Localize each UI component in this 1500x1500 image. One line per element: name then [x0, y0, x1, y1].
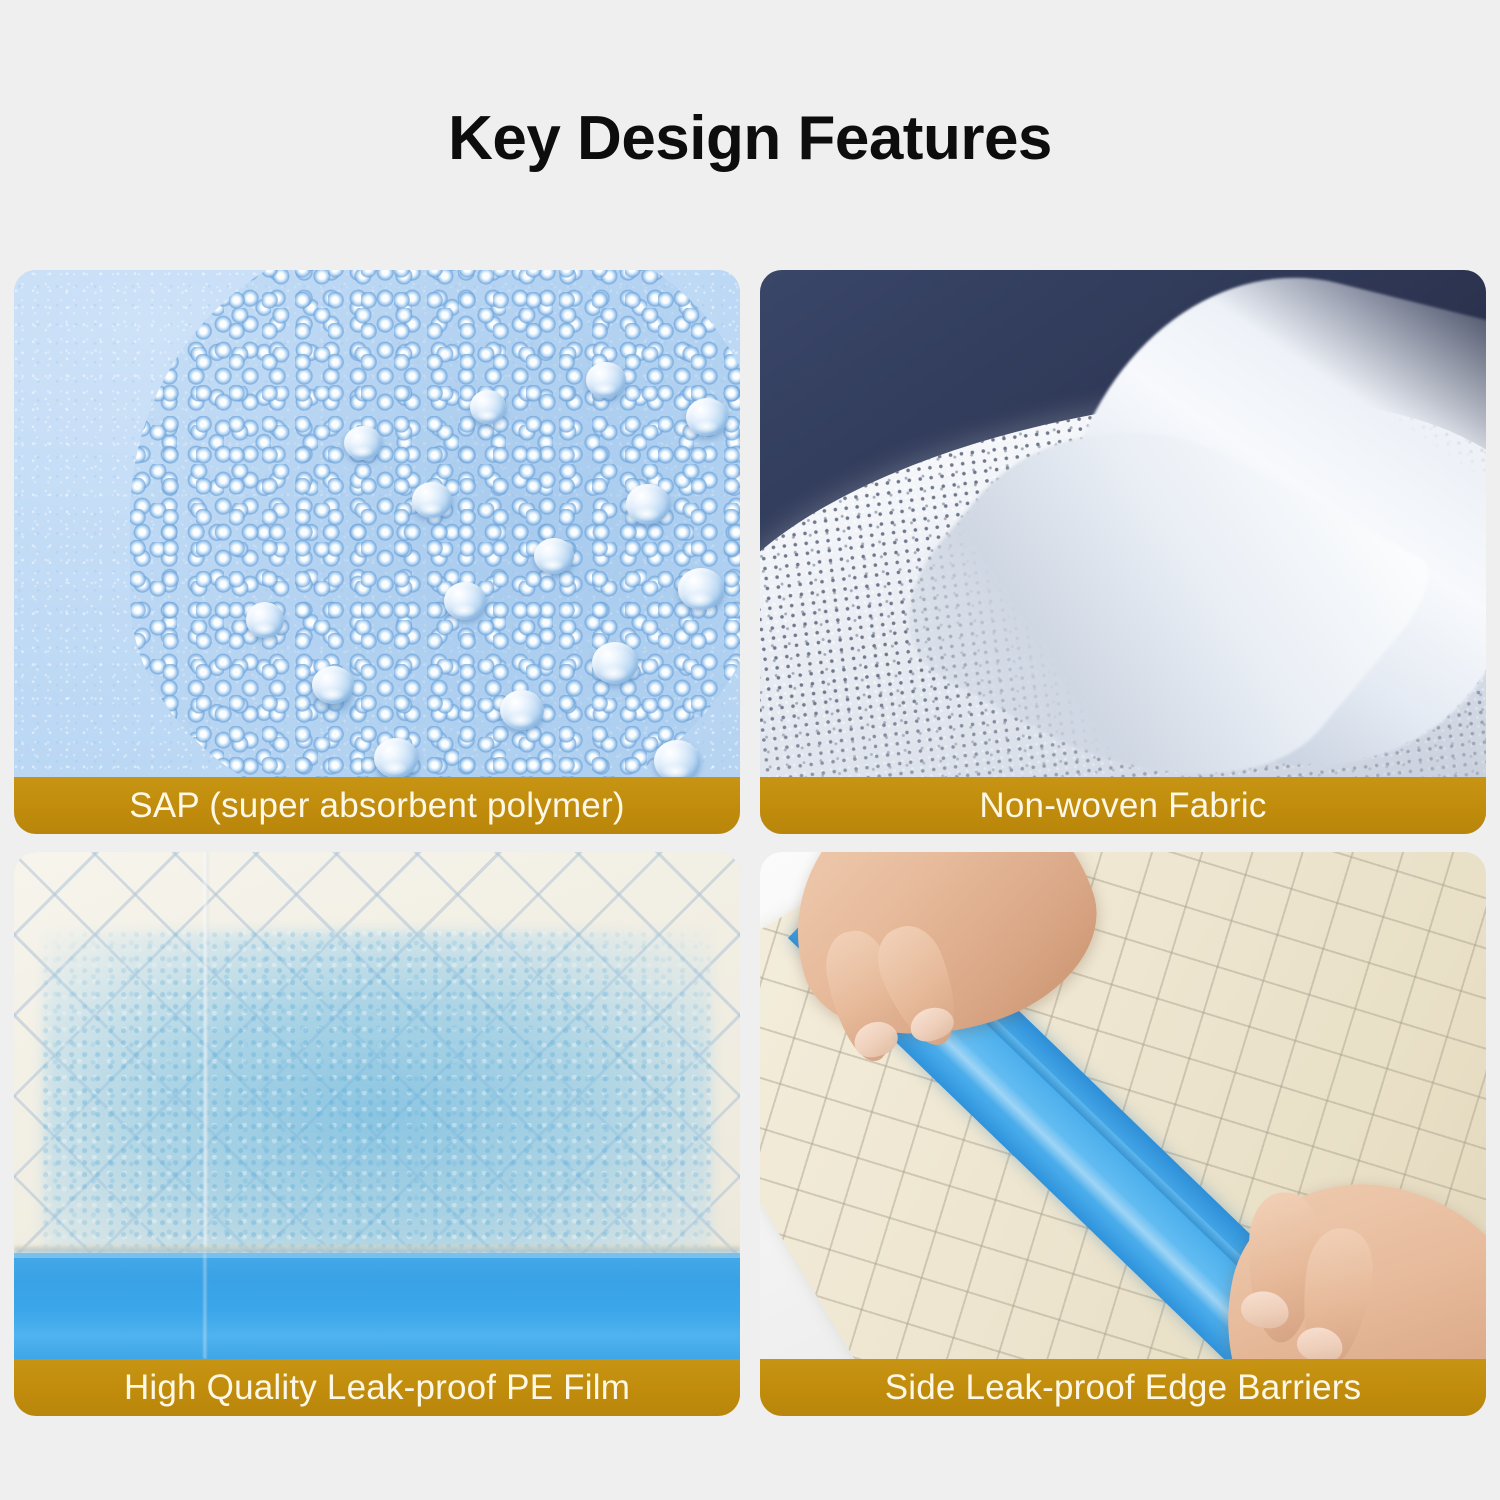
sap-bead — [470, 390, 506, 424]
sap-bead — [246, 602, 284, 638]
caption-bar-non-woven-fabric: Non-woven Fabric — [760, 777, 1486, 834]
feature-grid: SAP (super absorbent polymer) Non-woven … — [14, 270, 1486, 1434]
caption-bar-sap: SAP (super absorbent polymer) — [14, 777, 740, 834]
sap-bead — [500, 690, 544, 730]
pe-film-crease — [203, 1253, 207, 1359]
caption-label-non-woven-fabric: Non-woven Fabric — [979, 788, 1266, 823]
sap-bead — [626, 484, 670, 524]
page-title: Key Design Features — [0, 108, 1500, 170]
feature-card-pe-film[interactable]: High Quality Leak-proof PE Film — [14, 852, 740, 1416]
pe-film-seam — [14, 1246, 740, 1253]
sap-bead — [586, 362, 626, 398]
sap-bead — [344, 426, 382, 460]
caption-label-sap: SAP (super absorbent polymer) — [129, 788, 624, 823]
edge-barriers-photo — [760, 852, 1486, 1416]
sap-bead — [686, 398, 728, 436]
sap-bead — [444, 582, 486, 620]
sap-bead — [312, 666, 354, 704]
pe-film-photo — [14, 852, 740, 1416]
caption-bar-edge-barriers: Side Leak-proof Edge Barriers — [760, 1359, 1486, 1416]
pe-film-band — [14, 1253, 740, 1359]
sap-bead — [654, 740, 700, 782]
sap-photo — [14, 270, 740, 834]
sap-bead — [592, 642, 638, 684]
feature-card-non-woven-fabric[interactable]: Non-woven Fabric — [760, 270, 1486, 834]
non-woven-fabric-photo — [760, 270, 1486, 834]
sap-bead — [374, 738, 418, 778]
feature-card-edge-barriers[interactable]: Side Leak-proof Edge Barriers — [760, 852, 1486, 1416]
caption-bar-pe-film: High Quality Leak-proof PE Film — [14, 1359, 740, 1416]
feature-card-sap[interactable]: SAP (super absorbent polymer) — [14, 270, 740, 834]
sap-bead — [412, 482, 452, 518]
caption-label-pe-film: High Quality Leak-proof PE Film — [124, 1370, 630, 1405]
caption-label-edge-barriers: Side Leak-proof Edge Barriers — [885, 1370, 1362, 1405]
sap-bead-cluster — [130, 270, 740, 830]
sap-bead — [678, 568, 724, 610]
sap-bead — [534, 538, 574, 574]
